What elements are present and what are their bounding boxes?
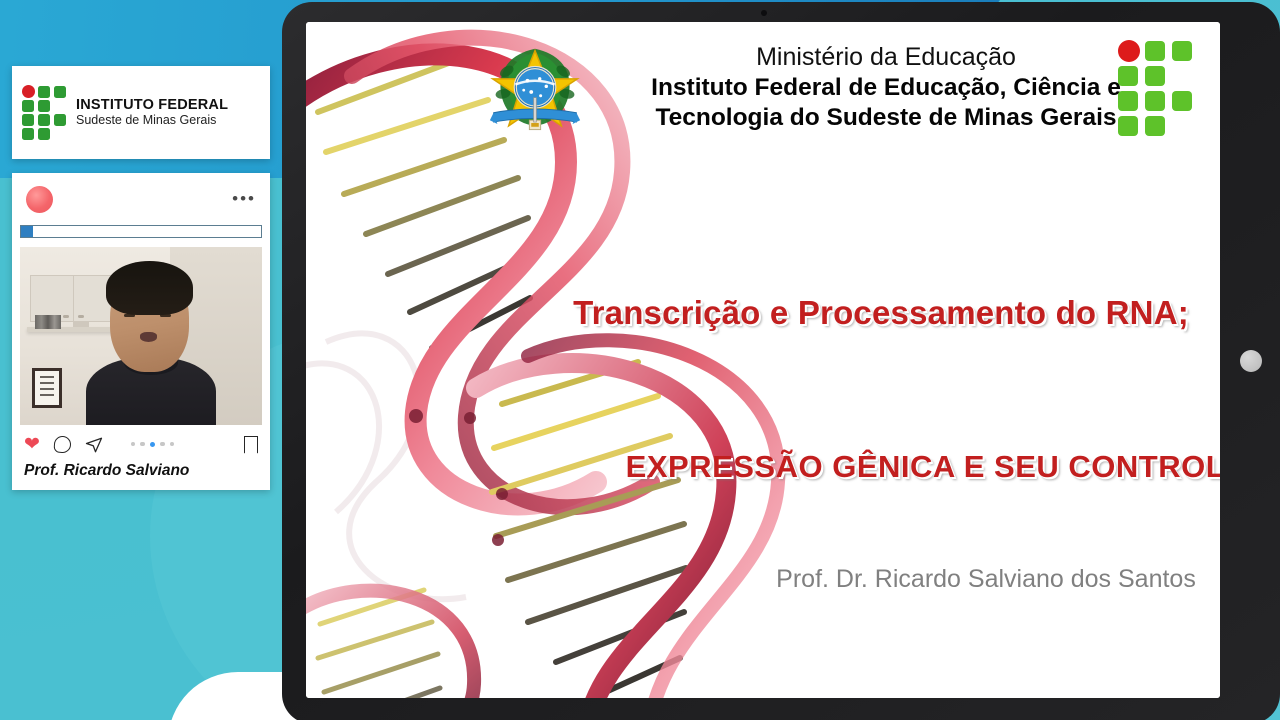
video-progress-bar[interactable] [20, 225, 262, 238]
video-progress-fill [21, 226, 33, 237]
ministry-line: Ministério da Educação [606, 42, 1166, 73]
left-sidebar: INSTITUTO FEDERAL Sudeste de Minas Gerai… [12, 66, 270, 490]
comment-bubble-icon[interactable] [54, 436, 71, 453]
home-button[interactable] [1240, 350, 1262, 372]
institute-line-2: Tecnologia do Sudeste de Minas Gerais [606, 103, 1166, 133]
slide-subtitle: EXPRESSÃO GÊNICA E SEU CONTROLE [606, 446, 1220, 488]
carousel-dots [131, 442, 175, 448]
more-options-icon[interactable]: ••• [232, 195, 256, 203]
institution-title: INSTITUTO FEDERAL [76, 98, 228, 113]
tablet-device: Ministério da Educação Instituto Federal… [282, 2, 1280, 720]
post-actions-bar: ❤ [12, 425, 270, 454]
webcam-video-frame[interactable] [20, 247, 262, 425]
video-post-card: ••• [12, 173, 270, 490]
post-caption: Prof. Ricardo Salviano [12, 454, 270, 480]
tablet-screen: Ministério da Educação Instituto Federal… [306, 22, 1220, 698]
shelf-books [35, 315, 61, 329]
instituto-federal-logo [22, 85, 68, 141]
institute-line-1: Instituto Federal de Educação, Ciência e [606, 73, 1166, 103]
post-header: ••• [12, 173, 270, 225]
institution-subtitle: Sudeste de Minas Gerais [76, 114, 228, 127]
slide-author: Prof. Dr. Ricardo Salviano dos Santos [686, 562, 1220, 598]
framed-picture [32, 368, 62, 408]
presentation-slide: Ministério da Educação Instituto Federal… [306, 22, 1220, 698]
slide-header: Ministério da Educação Instituto Federal… [306, 32, 1220, 182]
brazil-coat-of-arms [488, 38, 582, 146]
profile-avatar[interactable] [26, 186, 53, 213]
institution-card: INSTITUTO FEDERAL Sudeste de Minas Gerai… [12, 66, 270, 159]
bookmark-icon[interactable] [244, 436, 258, 454]
heart-icon[interactable]: ❤ [24, 435, 40, 454]
slide-title: Transcrição e Processamento do RNA; [486, 294, 1220, 332]
instituto-federal-logo-mark [1118, 40, 1196, 140]
slide-header-texts: Ministério da Educação Instituto Federal… [606, 42, 1166, 133]
paper-plane-icon[interactable] [85, 436, 103, 454]
person-on-camera [83, 247, 219, 425]
front-camera-icon [761, 10, 767, 16]
